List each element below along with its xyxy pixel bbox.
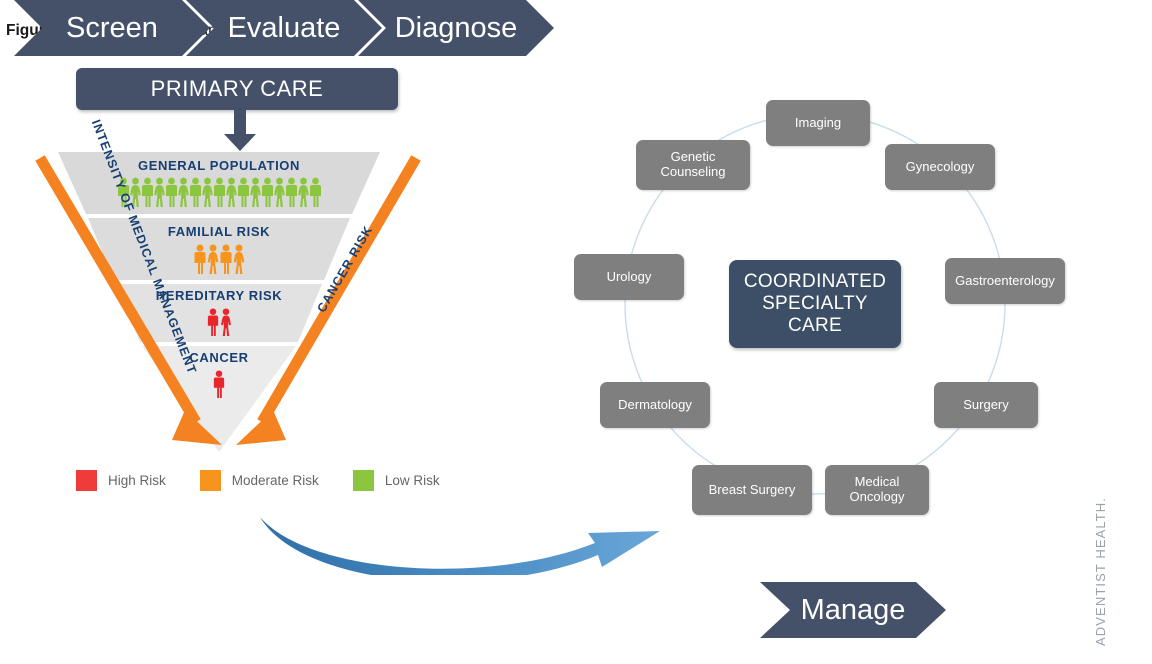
step-label: Diagnose — [395, 12, 518, 45]
legend-item-moderate-risk: Moderate Risk — [200, 470, 319, 491]
legend-item-high-risk: High Risk — [76, 470, 166, 491]
legend-label: Moderate Risk — [232, 473, 319, 488]
risk-axis-arrows — [0, 140, 440, 470]
center-label-line-2: SPECIALTY — [762, 293, 868, 314]
legend-item-low-risk: Low Risk — [353, 470, 440, 491]
legend-label: Low Risk — [385, 473, 440, 488]
specialty-node-gastroenterology[interactable]: Gastroenterology — [945, 258, 1065, 304]
pathway-step-manage[interactable]: Manage — [760, 582, 946, 638]
center-label: COORDINATED SPECIALTY CARE — [744, 271, 886, 337]
node-label-line-1: Genetic — [671, 149, 716, 164]
specialty-node-breast-surgery[interactable]: Breast Surgery — [692, 465, 812, 515]
specialty-node-gynecology[interactable]: Gynecology — [885, 144, 995, 190]
node-label: Gynecology — [906, 160, 975, 175]
pathway-step-diagnose[interactable]: Diagnose — [358, 0, 554, 56]
node-label-line-2: Counseling — [660, 164, 725, 179]
node-label-line-2: Oncology — [850, 489, 905, 504]
legend-swatch-icon — [353, 470, 374, 491]
coordinated-specialty-care-diagram: Imaging Gynecology Gastroenterology Surg… — [600, 86, 1100, 536]
specialty-node-urology[interactable]: Urology — [574, 254, 684, 300]
center-label-line-3: CARE — [788, 315, 842, 336]
specialty-node-imaging[interactable]: Imaging — [766, 100, 870, 146]
coordinated-specialty-care-center[interactable]: COORDINATED SPECIALTY CARE — [729, 260, 901, 348]
specialty-node-dermatology[interactable]: Dermatology — [600, 382, 710, 428]
specialty-node-genetic-counseling[interactable]: Genetic Counseling — [636, 140, 750, 190]
brand-wordmark: ADVENTIST HEALTH. — [1093, 497, 1108, 646]
step-label: Screen — [66, 12, 158, 45]
step-label: Evaluate — [228, 12, 341, 45]
specialty-node-surgery[interactable]: Surgery — [934, 382, 1038, 428]
legend-label: High Risk — [108, 473, 166, 488]
node-label: Urology — [607, 270, 652, 285]
step-label: Manage — [801, 594, 906, 627]
node-label: Gastroenterology — [955, 274, 1055, 289]
legend-swatch-icon — [200, 470, 221, 491]
node-label: Dermatology — [618, 398, 692, 413]
node-label: Imaging — [795, 116, 841, 131]
node-label: Medical Oncology — [850, 475, 905, 505]
risk-legend: High Risk Moderate Risk Low Risk — [76, 470, 474, 491]
node-label: Breast Surgery — [709, 483, 796, 498]
specialty-node-medical-oncology[interactable]: Medical Oncology — [825, 465, 929, 515]
primary-care-box[interactable]: PRIMARY CARE — [76, 68, 398, 110]
primary-care-label: PRIMARY CARE — [151, 76, 324, 102]
pathway-step-screen[interactable]: Screen — [14, 0, 210, 56]
center-label-line-1: COORDINATED — [744, 271, 886, 292]
node-label: Genetic Counseling — [660, 150, 725, 180]
legend-swatch-icon — [76, 470, 97, 491]
pathway-step-evaluate[interactable]: Evaluate — [186, 0, 382, 56]
node-label-line-1: Medical — [855, 474, 900, 489]
node-label: Surgery — [963, 398, 1009, 413]
